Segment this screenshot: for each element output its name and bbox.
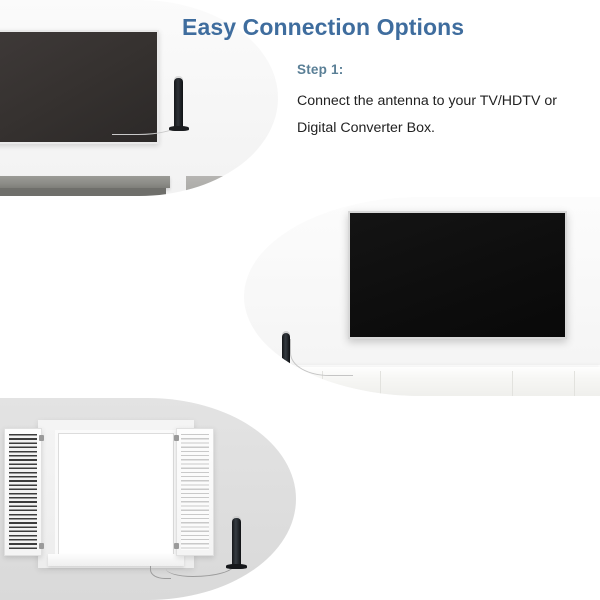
window-sill [48, 554, 184, 566]
step-1-body: Connect the antenna to your TV/HDTV or D… [297, 88, 589, 143]
page-title: Easy Connection Options [182, 14, 464, 41]
concrete-block [186, 176, 266, 196]
shutter-hinge [39, 435, 44, 441]
shutter-hinge [39, 543, 44, 549]
console-seam [512, 371, 513, 396]
step-2-band: Step 2: Position the antenna on the tabl… [0, 197, 600, 396]
step-1-body-line-2: Digital Converter Box. [297, 115, 589, 142]
shutter-hinge [174, 435, 179, 441]
media-console [252, 367, 600, 396]
step-1-text: Step 1: Connect the antenna to your TV/H… [297, 62, 589, 143]
step-3-photo [0, 398, 296, 600]
tv-antenna [282, 333, 290, 375]
wall-shelf [0, 176, 170, 188]
product-infographic: Easy Connection Options Step 1: Connect … [0, 0, 600, 600]
shutter-hinge [174, 543, 179, 549]
antenna-base [277, 373, 295, 378]
antenna-base [226, 564, 247, 569]
antenna-cable [166, 556, 235, 577]
television-screen [348, 211, 567, 339]
console-seam [574, 371, 575, 396]
tv-antenna [232, 518, 241, 566]
window-shutter-right [176, 428, 214, 556]
step-3-band: Step 3: Scan for the channel and enjoy y… [0, 398, 600, 600]
shutter-louvers [181, 434, 209, 550]
step-2-photo [244, 197, 600, 396]
console-seam [380, 371, 381, 396]
wall-shelf-face [0, 188, 166, 196]
antenna-cable [112, 118, 177, 135]
step-1-label: Step 1: [297, 62, 589, 77]
shutter-louvers [9, 434, 37, 550]
antenna-base [169, 126, 189, 131]
tv-antenna [174, 78, 183, 128]
window-shutter-left [4, 428, 42, 556]
step-1-band: Easy Connection Options Step 1: Connect … [0, 0, 600, 196]
step-1-body-line-1: Connect the antenna to your TV/HDTV or [297, 88, 589, 115]
window-sash [55, 430, 177, 558]
